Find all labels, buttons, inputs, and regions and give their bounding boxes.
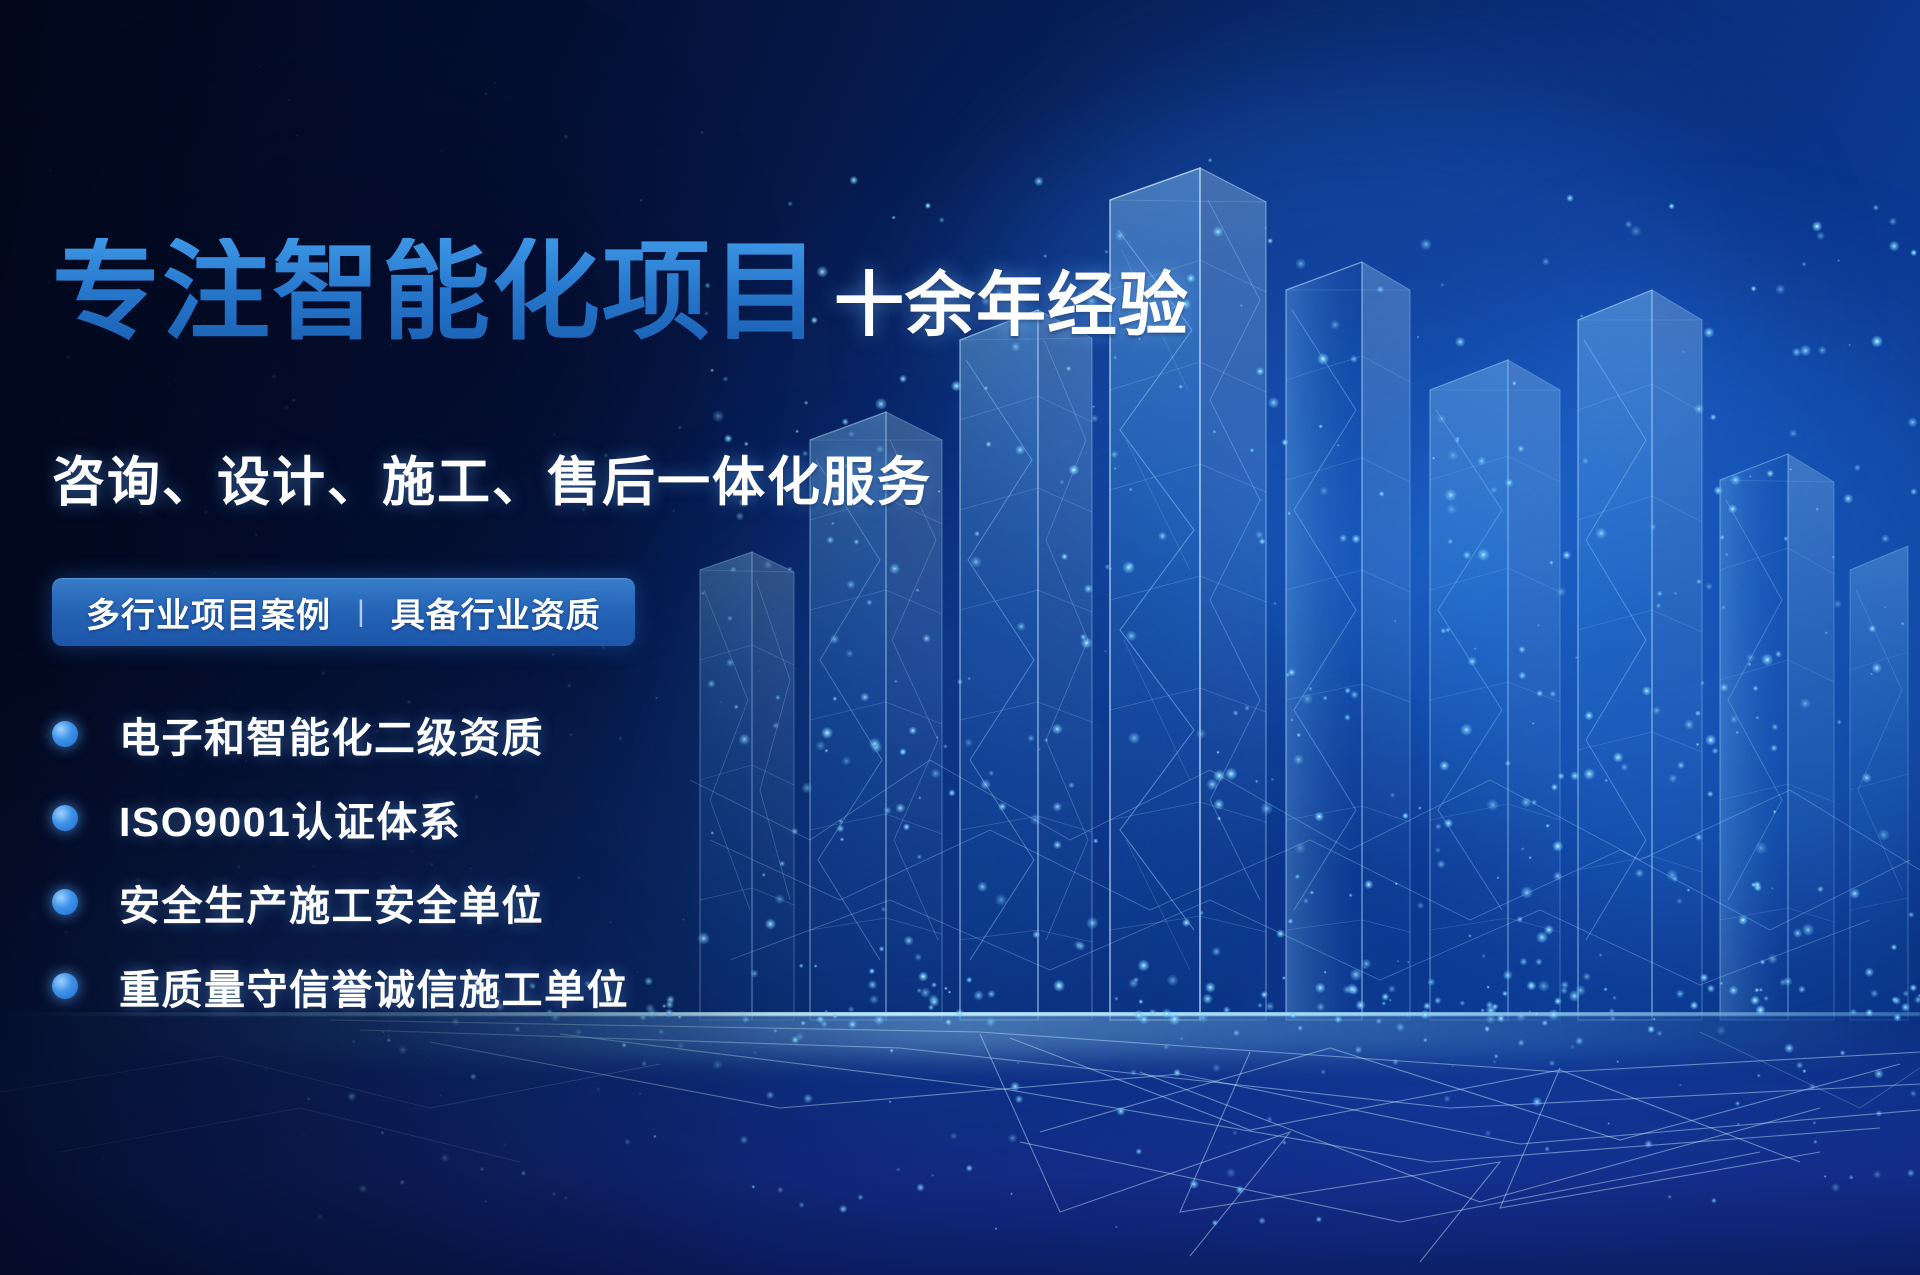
dot-icon [52, 889, 78, 915]
badge-left-label: 多行业项目案例 [86, 588, 331, 637]
list-item: ISO9001认证体系 [52, 776, 629, 860]
page-subtitle: 咨询、设计、施工、售后一体化服务 [52, 440, 932, 516]
hero-banner: 专注智能化项目 十余年经验 咨询、设计、施工、售后一体化服务 多行业项目案例 |… [0, 0, 1920, 1275]
dot-icon [52, 721, 78, 747]
list-item-label: ISO9001认证体系 [119, 788, 461, 848]
headline-main: 专注智能化项目 [52, 238, 822, 346]
dot-icon [52, 973, 78, 999]
status-badge: 多行业项目案例 | 具备行业资质 [52, 578, 635, 646]
badge-right-label: 具备行业资质 [391, 588, 601, 637]
list-item: 重质量守信誉诚信施工单位 [52, 944, 629, 1028]
badge-separator: | [357, 595, 365, 629]
list-item: 电子和智能化二级资质 [52, 692, 629, 776]
headline-emphasis: 十余年经验 [834, 270, 1189, 340]
list-item-label: 安全生产施工安全单位 [119, 872, 544, 932]
list-item-label: 电子和智能化二级资质 [119, 704, 544, 764]
page-title: 专注智能化项目 十余年经验 [52, 238, 1189, 346]
list-item: 安全生产施工安全单位 [52, 860, 629, 944]
banner-content: 专注智能化项目 十余年经验 咨询、设计、施工、售后一体化服务 多行业项目案例 |… [0, 0, 1920, 1275]
credential-list: 电子和智能化二级资质 ISO9001认证体系 安全生产施工安全单位 重质量守信誉… [52, 692, 629, 1028]
dot-icon [52, 805, 78, 831]
list-item-label: 重质量守信誉诚信施工单位 [119, 956, 629, 1016]
